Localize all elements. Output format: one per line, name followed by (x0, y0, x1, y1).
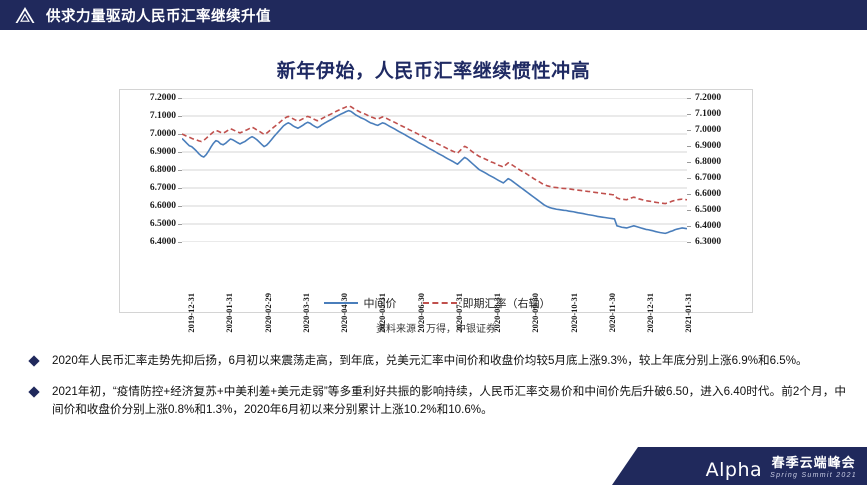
legend-swatch-solid (324, 302, 358, 304)
slide: 供求力量驱动人民币汇率继续升值 新年伊始，人民币汇率继续惯性冲高 7.20007… (0, 0, 867, 485)
axis-tick-label: 6.5000 (150, 219, 176, 229)
footer-brand-cn: 春季云端峰会 (772, 456, 856, 470)
chart-legend: 中间价即期汇率（右轴） (120, 295, 754, 311)
axis-tick-label: 6.6000 (150, 201, 176, 211)
footer-brand-alpha: Alpha (706, 460, 763, 481)
axis-tick-label: 6.8000 (150, 165, 176, 175)
chart-source: 资料来源：万得，中银证券 (119, 320, 753, 335)
page-title: 供求力量驱动人民币汇率继续升值 (46, 5, 271, 26)
triangle-mountain-icon (14, 6, 36, 24)
diamond-bullet-icon (28, 386, 39, 397)
slide-header: 供求力量驱动人民币汇率继续升值 (0, 0, 867, 30)
axis-tick-label: 7.1000 (150, 111, 176, 121)
bullet-item: 2021年初，“疫情防控+经济复苏+中美利差+美元走弱”等多重利好共振的影响持续… (28, 383, 846, 419)
bullet-text: 2020年人民币汇率走势先抑后扬，6月初以来震荡走高，到年底，兑美元汇率中间价和… (52, 352, 846, 370)
axis-tick-label: 7.0000 (150, 129, 176, 139)
slide-footer: Alpha 春季云端峰会 Spring Summit 2021 (0, 447, 867, 485)
chart-container: 7.20007.10007.00006.90006.80006.70006.60… (119, 89, 753, 313)
axis-tick-label: 7.1000 (695, 109, 721, 119)
series-line-spot (182, 106, 687, 204)
axis-tick-label: 7.2000 (695, 93, 721, 103)
y-axis-left: 7.20007.10007.00006.90006.80006.70006.60… (124, 98, 180, 242)
axis-tick-label: 6.6000 (695, 189, 721, 199)
diamond-bullet-icon (28, 355, 39, 366)
axis-tick-label: 6.7000 (695, 173, 721, 183)
x-axis-labels: 2019-12-312020-01-312020-02-292020-03-31… (182, 243, 687, 299)
axis-tick-label: 7.0000 (695, 125, 721, 135)
axis-tick-label: 6.3000 (695, 237, 721, 247)
axis-tick-label: 6.9000 (695, 141, 721, 151)
legend-item[interactable]: 中间价 (324, 295, 397, 311)
axis-tick-label: 6.7000 (150, 183, 176, 193)
axis-tick-label: 6.4000 (150, 237, 176, 247)
y-axis-right-tickmarks (687, 98, 691, 242)
axis-tick-label: 6.9000 (150, 147, 176, 157)
chart-title: 新年伊始，人民币汇率继续惯性冲高 (0, 56, 867, 83)
axis-tick-label: 6.4000 (695, 221, 721, 231)
legend-label: 中间价 (364, 295, 397, 311)
gridlines (182, 98, 687, 242)
axis-tick-label: 7.2000 (150, 93, 176, 103)
bullet-item: 2020年人民币汇率走势先抑后扬，6月初以来震荡走高，到年底，兑美元汇率中间价和… (28, 352, 846, 370)
axis-tick-label: 6.8000 (695, 157, 721, 167)
footer-brand: Alpha 春季云端峰会 Spring Summit 2021 (706, 456, 857, 481)
legend-label: 即期汇率（右轴） (463, 295, 551, 311)
footer-brand-cn-block: 春季云端峰会 Spring Summit 2021 (770, 456, 857, 481)
bullet-list: 2020年人民币汇率走势先抑后扬，6月初以来震荡走高，到年底，兑美元汇率中间价和… (28, 352, 846, 432)
legend-item[interactable]: 即期汇率（右轴） (423, 295, 551, 311)
y-axis-right: 7.20007.10007.00006.90006.80006.70006.60… (689, 98, 747, 242)
series-line-mid (182, 111, 687, 234)
footer-brand-sub: Spring Summit 2021 (770, 472, 857, 479)
plot-area (182, 98, 687, 242)
axis-tick-label: 6.5000 (695, 205, 721, 215)
legend-swatch-dashed (423, 302, 457, 304)
bullet-text: 2021年初，“疫情防控+经济复苏+中美利差+美元走弱”等多重利好共振的影响持续… (52, 383, 846, 419)
